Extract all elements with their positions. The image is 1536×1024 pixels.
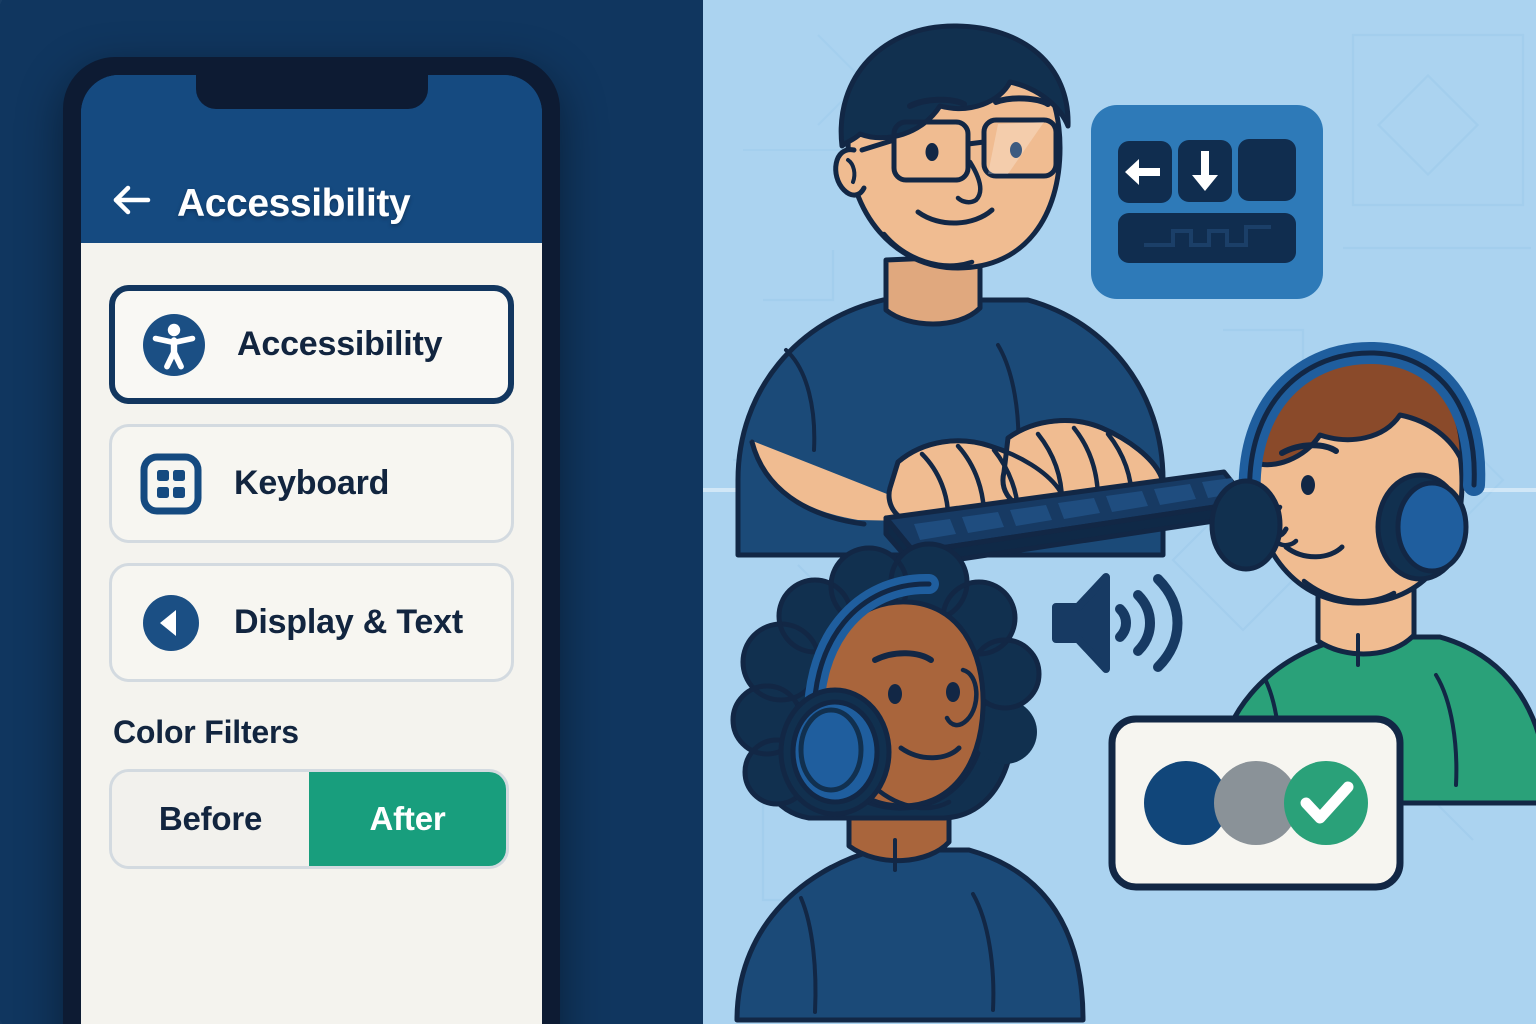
blank-key-icon bbox=[1238, 139, 1296, 201]
phone-notch bbox=[196, 75, 428, 109]
woman-wearing-headphones bbox=[723, 550, 1093, 1020]
sidebar-item-label: Keyboard bbox=[234, 464, 389, 503]
sound-wave-1 bbox=[1120, 609, 1126, 637]
color-swatch-card bbox=[1108, 715, 1404, 891]
phone-screen: Accessibility bbox=[81, 75, 542, 1024]
spacebar-key-icon bbox=[1118, 213, 1296, 263]
before-after-segmented-control[interactable]: Before After bbox=[109, 769, 509, 869]
page-title: Accessibility bbox=[177, 184, 410, 223]
illustration-panel bbox=[703, 0, 1536, 1024]
left-panel: Accessibility bbox=[0, 0, 703, 1024]
segment-before[interactable]: Before bbox=[112, 772, 309, 866]
segment-after[interactable]: After bbox=[309, 772, 506, 866]
sidebar-item-label: Accessibility bbox=[237, 325, 442, 364]
sidebar-item-accessibility[interactable]: Accessibility bbox=[109, 285, 514, 404]
sound-wave-2 bbox=[1138, 595, 1150, 651]
arrow-left-icon[interactable] bbox=[109, 177, 155, 223]
sound-wave-3 bbox=[1158, 579, 1178, 667]
accessibility-person-icon bbox=[141, 312, 207, 378]
sidebar-item-label: Display & Text bbox=[234, 603, 463, 642]
keyboard-grid-icon bbox=[138, 451, 204, 517]
phone-device: Accessibility bbox=[63, 57, 560, 1024]
keyboard-shortcut-card bbox=[1091, 105, 1323, 299]
screenshot-canvas: Accessibility bbox=[0, 0, 1536, 1024]
keys bbox=[1118, 139, 1296, 203]
swatch-green bbox=[1284, 761, 1368, 845]
settings-list: Accessibility bbox=[81, 243, 542, 1024]
sidebar-item-keyboard[interactable]: Keyboard bbox=[109, 424, 514, 543]
sidebar-item-display-text[interactable]: Display & Text bbox=[109, 563, 514, 682]
color-filters-heading: Color Filters bbox=[113, 714, 514, 751]
contrast-circle-icon bbox=[138, 590, 204, 656]
